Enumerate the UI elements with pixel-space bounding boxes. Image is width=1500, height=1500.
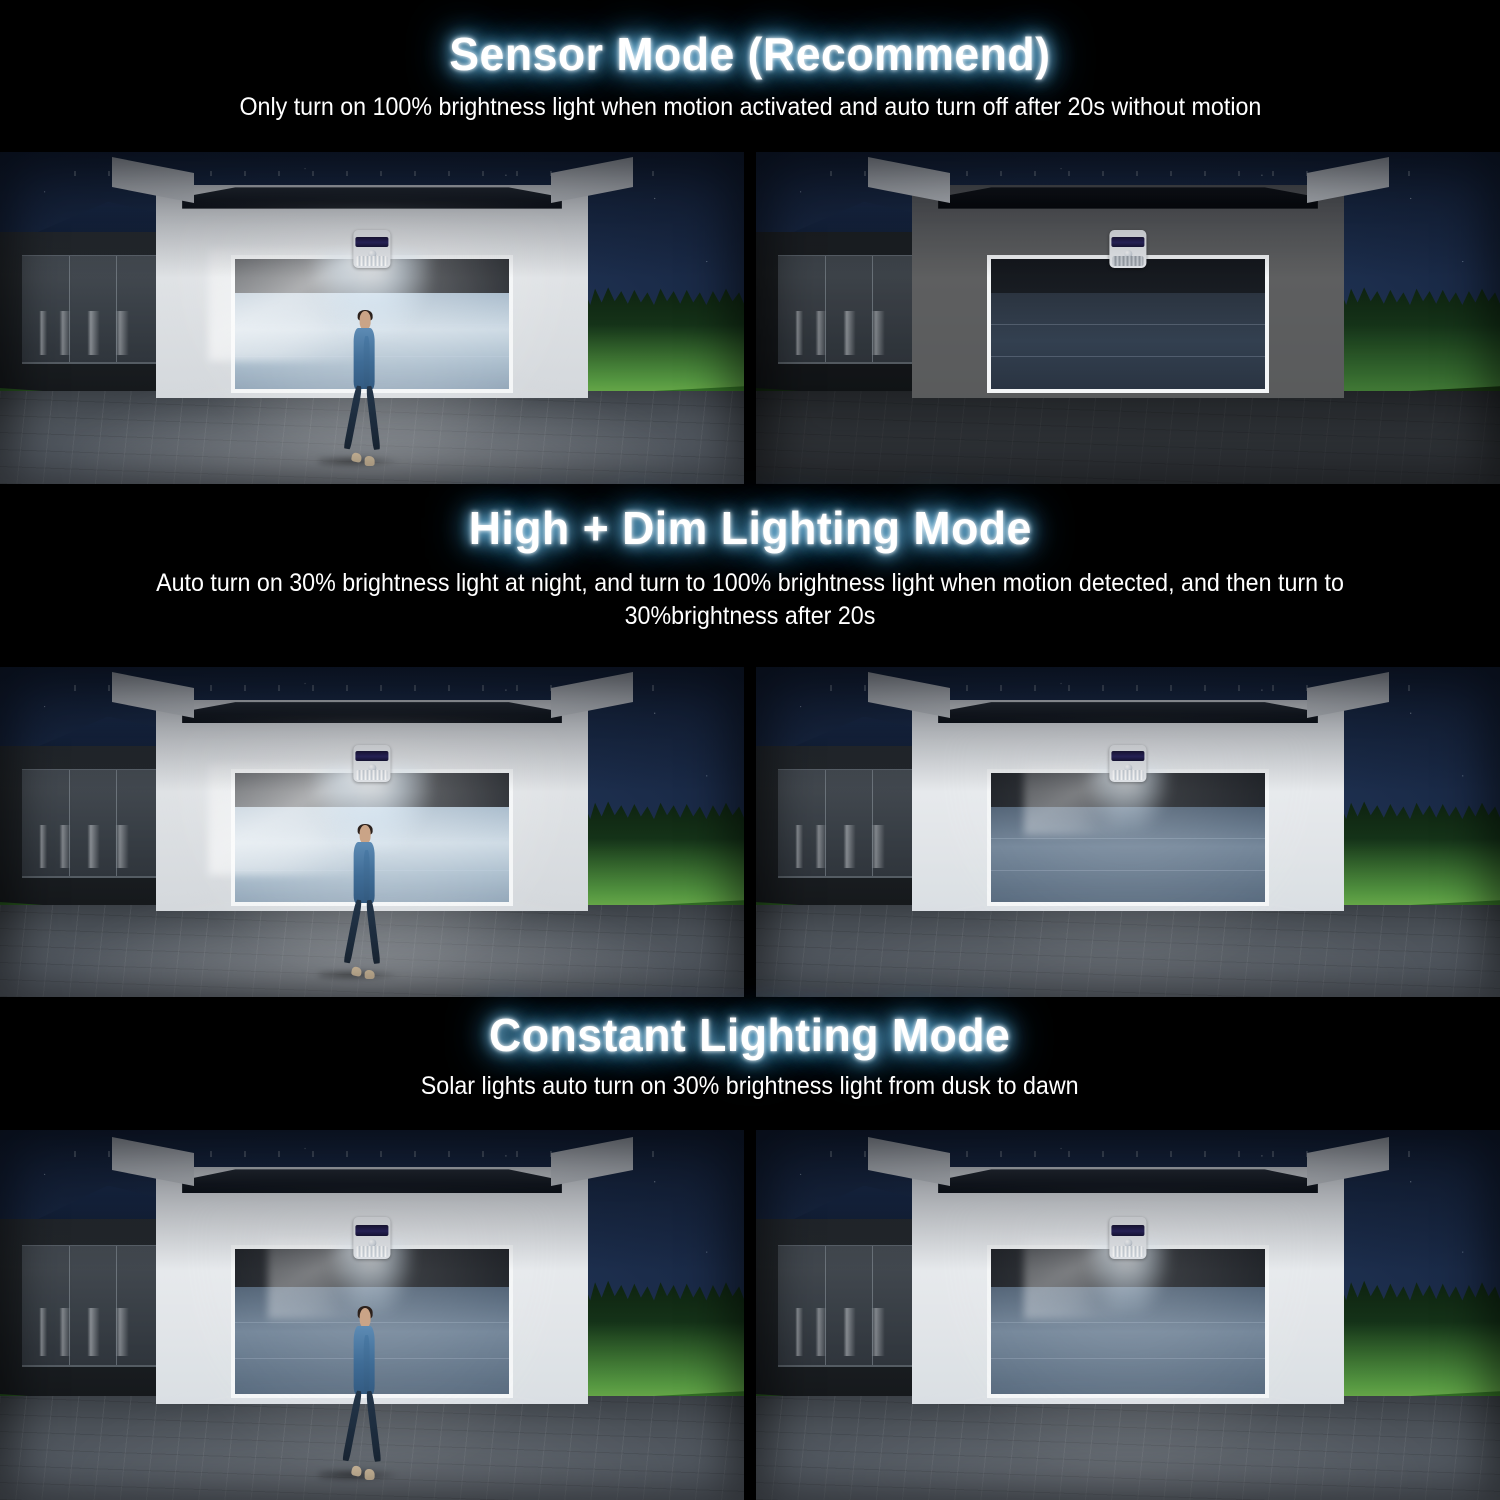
fixture-body: [1109, 1217, 1146, 1260]
solar-light-fixture: [353, 745, 390, 783]
person-head: [359, 311, 371, 329]
header-sensor-mode: Sensor Mode (Recommend) Only turn on 100…: [0, 0, 1500, 152]
solar-light-fixture: [353, 230, 390, 268]
section-sensor-mode: Sensor Mode (Recommend) Only turn on 100…: [0, 0, 1500, 484]
section-high-dim-mode: High + Dim Lighting Mode Auto turn on 30…: [0, 484, 1500, 997]
led-array: [356, 1246, 387, 1257]
person-shoe-back: [365, 970, 375, 979]
neighbor-interior-furniture: [37, 825, 149, 868]
garage-scene-lit: [0, 152, 744, 484]
walking-person: [348, 825, 381, 977]
ground-light-glow: [830, 898, 1425, 997]
neighbor-interior-furniture: [37, 1308, 149, 1356]
roof-eave: [938, 187, 1318, 208]
roof-eave: [182, 187, 562, 208]
garage-door-frame: [987, 255, 1270, 393]
fixture-body: [353, 1217, 390, 1260]
fixture-body: [1109, 230, 1146, 268]
led-array: [1112, 256, 1143, 266]
driveway-paving-lines: [756, 391, 1500, 484]
garage-door-panels: [991, 293, 1266, 389]
mode-description: Only turn on 100% brightness light when …: [239, 91, 1261, 124]
solar-panel: [356, 237, 389, 247]
mode-title: Constant Lighting Mode: [489, 1011, 1010, 1060]
garage-door: [991, 259, 1266, 389]
person-leg-back: [365, 1391, 381, 1463]
garage-scene-dark: [756, 152, 1500, 484]
person-arm: [363, 336, 370, 389]
panel-high-dim-mode-dim: [756, 667, 1500, 997]
person-arm: [363, 1335, 370, 1395]
panel-constant-mode-right: [756, 1130, 1500, 1500]
neighbor-interior-furniture: [793, 311, 905, 354]
mode-title: High + Dim Lighting Mode: [468, 504, 1031, 553]
fixture-body: [1109, 745, 1146, 783]
roof-eave: [182, 1169, 562, 1193]
solar-panel: [1112, 237, 1145, 247]
person-shoe-back: [365, 1469, 375, 1479]
panel-constant-mode-left: [0, 1130, 744, 1500]
panel-sensor-mode-off: [756, 152, 1500, 484]
mode-title: Sensor Mode (Recommend): [449, 30, 1050, 79]
scene-row-constant-mode: [0, 1130, 1500, 1500]
header-constant-mode: Constant Lighting Mode Solar lights auto…: [0, 997, 1500, 1130]
solar-light-fixture: [353, 1217, 390, 1260]
ground-light-glow: [830, 1389, 1425, 1500]
led-array: [1112, 1246, 1143, 1257]
scene-row-high-dim-mode: [0, 667, 1500, 997]
walking-person: [348, 1308, 381, 1478]
solar-panel: [1112, 751, 1145, 761]
garage-scene-dim: [756, 1130, 1500, 1500]
person-head: [359, 825, 371, 843]
solar-panel: [356, 751, 389, 761]
solar-panel: [356, 1225, 389, 1236]
fixture-body: [353, 230, 390, 268]
panel-high-dim-mode-high: [0, 667, 744, 997]
person-leg-back: [365, 899, 380, 963]
person-head: [359, 1308, 371, 1328]
person-leg-back: [365, 386, 380, 451]
neighbor-interior-furniture: [793, 825, 905, 868]
header-high-dim-mode: High + Dim Lighting Mode Auto turn on 30…: [0, 484, 1500, 667]
solar-panel: [1112, 1225, 1145, 1236]
roof-eave: [938, 1169, 1318, 1193]
solar-light-fixture: [1109, 230, 1146, 268]
garage-scene-dim: [756, 667, 1500, 997]
person-shoe-back: [365, 456, 375, 465]
roof-eave: [182, 702, 562, 723]
roof-eave: [938, 702, 1318, 723]
walking-person: [348, 311, 381, 464]
neighbor-interior-furniture: [793, 1308, 905, 1356]
led-array: [356, 256, 387, 266]
mode-description: Auto turn on 30% brightness light at nig…: [90, 567, 1411, 633]
solar-light-fixture: [1109, 745, 1146, 783]
fixture-body: [353, 745, 390, 783]
solar-light-fixture: [1109, 1217, 1146, 1260]
solar-light-modes-infographic: Sensor Mode (Recommend) Only turn on 100…: [0, 0, 1500, 1500]
garage-scene-lit: [0, 667, 744, 997]
mode-description: Solar lights auto turn on 30% brightness…: [421, 1070, 1079, 1103]
person-arm: [363, 850, 370, 903]
panel-sensor-mode-on: [0, 152, 744, 484]
neighbor-interior-furniture: [37, 311, 149, 354]
section-constant-mode: Constant Lighting Mode Solar lights auto…: [0, 997, 1500, 1500]
led-array: [356, 770, 387, 780]
scene-row-sensor-mode: [0, 152, 1500, 484]
garage-scene-dim: [0, 1130, 744, 1500]
led-array: [1112, 770, 1143, 780]
